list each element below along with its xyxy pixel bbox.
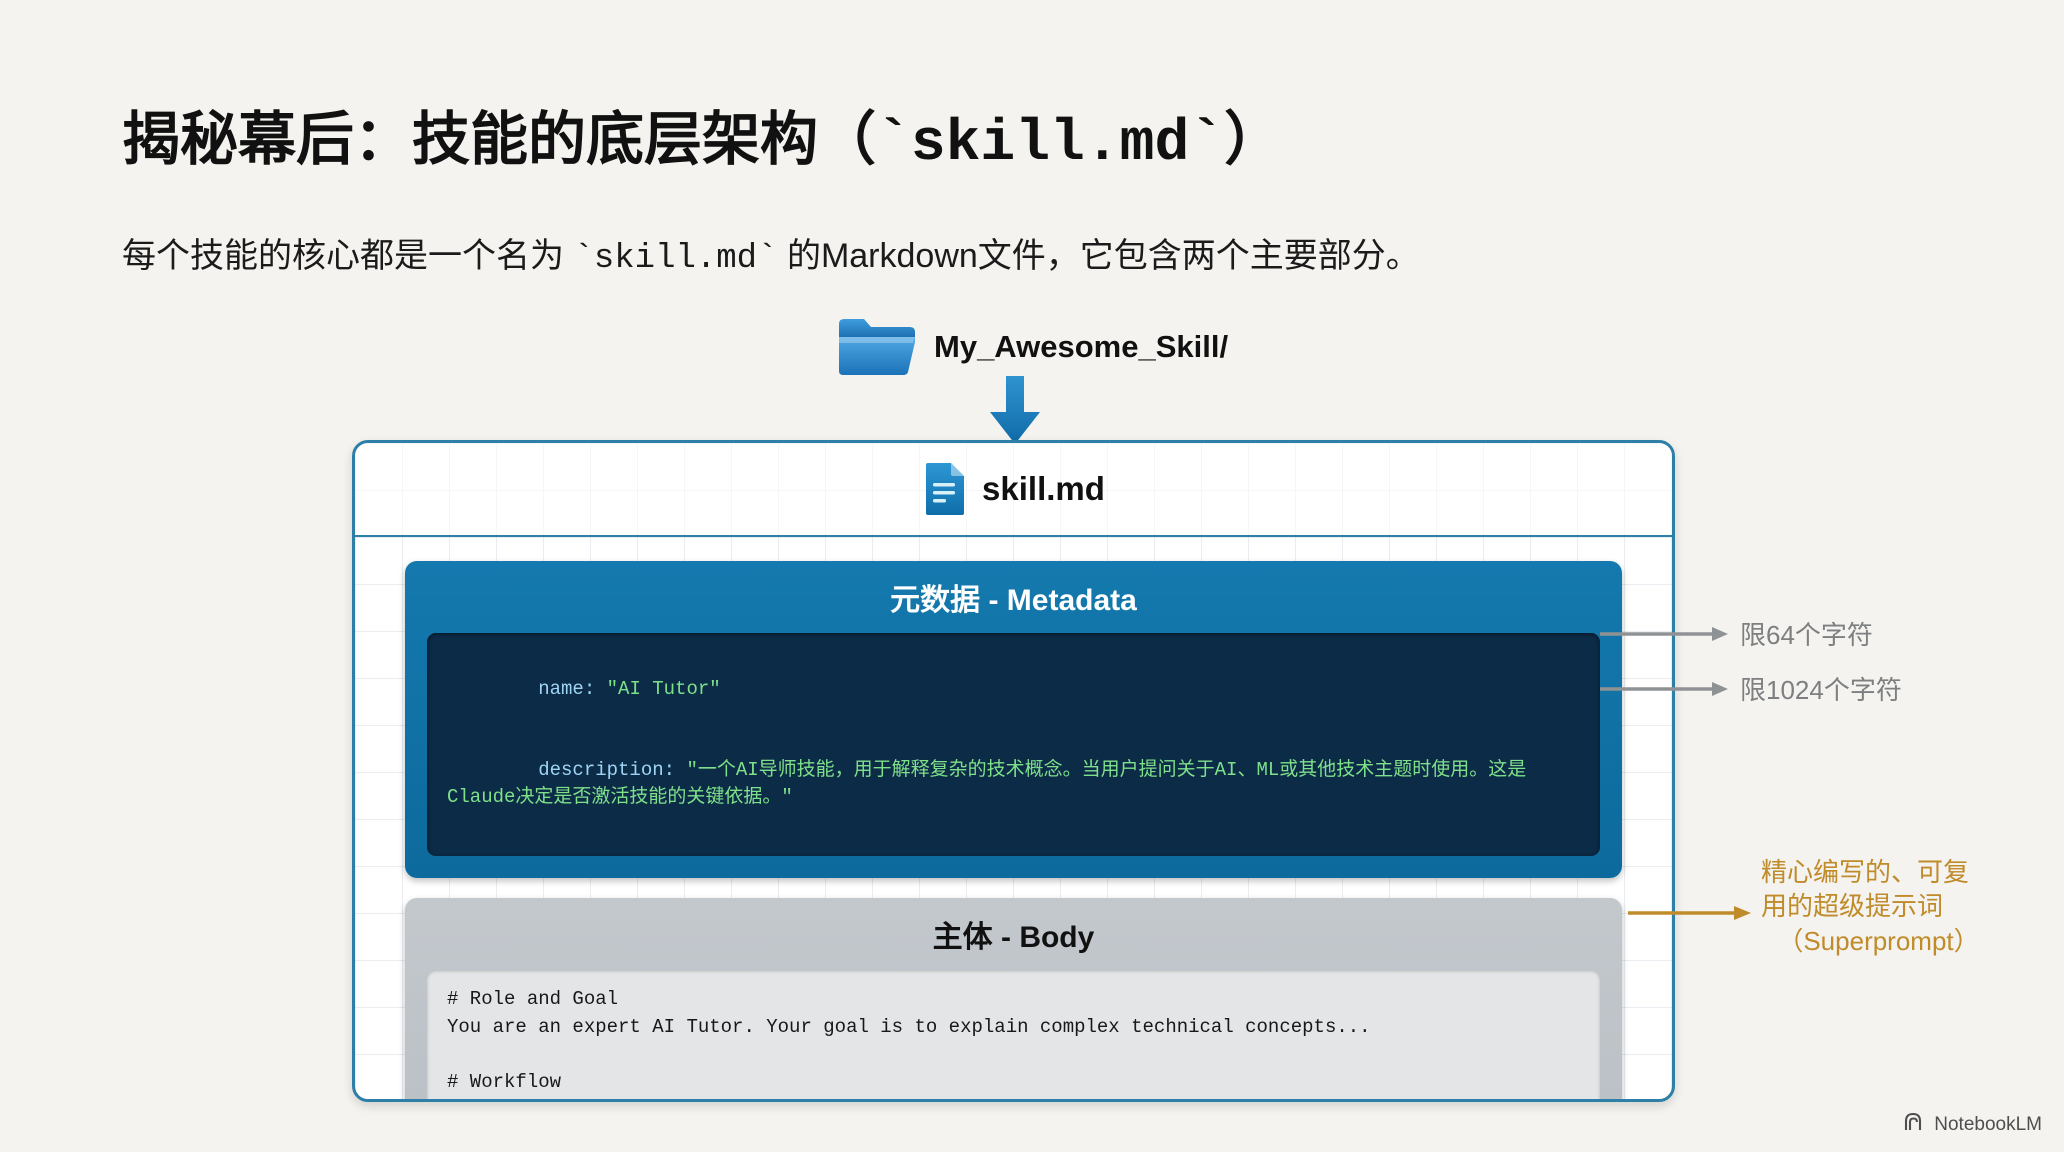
page-title-code: `skill.md` xyxy=(876,112,1224,177)
annotation-superprompt-line3: （Superprompt） xyxy=(1761,924,1996,958)
metadata-key-description: description: xyxy=(538,759,675,781)
folder-label: My_Awesome_Skill/ xyxy=(934,329,1228,365)
annotation-name-limit-label: 限64个字符 xyxy=(1740,615,1873,652)
annotation-superprompt: 精心编写的、可复 用的超级提示词 （Superprompt） xyxy=(1683,855,2063,958)
page-subtitle-suffix: 的Markdown文件，它包含两个主要部分。 xyxy=(778,237,1420,275)
arrow-right-icon xyxy=(1628,903,1753,923)
metadata-line-description: description: "一个AI导师技能，用于解释复杂的技术概念。当用户提问… xyxy=(447,730,1580,838)
page-title-suffix: ） xyxy=(1224,107,1282,172)
annotation-name-limit: 限64个字符 xyxy=(1600,615,1873,652)
arrow-right-icon xyxy=(1600,624,1730,644)
metadata-line-name: name: "AI Tutor" xyxy=(447,649,1580,730)
metadata-section-title: 元数据 - Metadata xyxy=(427,575,1600,619)
skill-file-container: skill.md 元数据 - Metadata name: "AI Tutor"… xyxy=(352,440,1675,1102)
page-subtitle-prefix: 每个技能的核心都是一个名为 xyxy=(122,237,573,275)
arrow-right-icon xyxy=(1600,679,1730,699)
body-code-block: # Role and Goal You are an expert AI Tut… xyxy=(427,970,1600,1102)
page-title: 揭秘幕后：技能的底层架构（`skill.md`） xyxy=(122,92,1282,177)
folder-row: My_Awesome_Skill/ xyxy=(836,316,1228,378)
page-title-prefix: 揭秘幕后：技能的底层架构（ xyxy=(122,107,876,172)
body-section: 主体 - Body # Role and Goal You are an exp… xyxy=(405,898,1622,1102)
annotation-superprompt-line1: 精心编写的、可复 xyxy=(1761,855,2063,889)
metadata-value-name: "AI Tutor" xyxy=(595,678,720,700)
annotation-description-limit: 限1024个字符 xyxy=(1600,670,1902,707)
document-icon xyxy=(922,461,966,517)
annotation-superprompt-line2: 用的超级提示词 xyxy=(1761,889,2063,923)
page-subtitle-code: `skill.md` xyxy=(573,240,777,278)
watermark: NotebookLM xyxy=(1904,1111,2042,1138)
metadata-key-name: name: xyxy=(538,678,595,700)
watermark-label: NotebookLM xyxy=(1934,1114,2042,1136)
file-header: skill.md xyxy=(355,443,1672,537)
file-name-label: skill.md xyxy=(982,470,1105,508)
annotation-description-limit-label: 限1024个字符 xyxy=(1740,670,1902,707)
metadata-section: 元数据 - Metadata name: "AI Tutor" descript… xyxy=(405,561,1622,878)
body-section-title: 主体 - Body xyxy=(427,912,1600,956)
folder-icon xyxy=(836,316,918,378)
notebooklm-icon xyxy=(1904,1111,1926,1138)
metadata-code-block: name: "AI Tutor" description: "一个AI导师技能，… xyxy=(427,633,1600,856)
page-subtitle: 每个技能的核心都是一个名为 `skill.md` 的Markdown文件，它包含… xyxy=(122,228,1420,278)
